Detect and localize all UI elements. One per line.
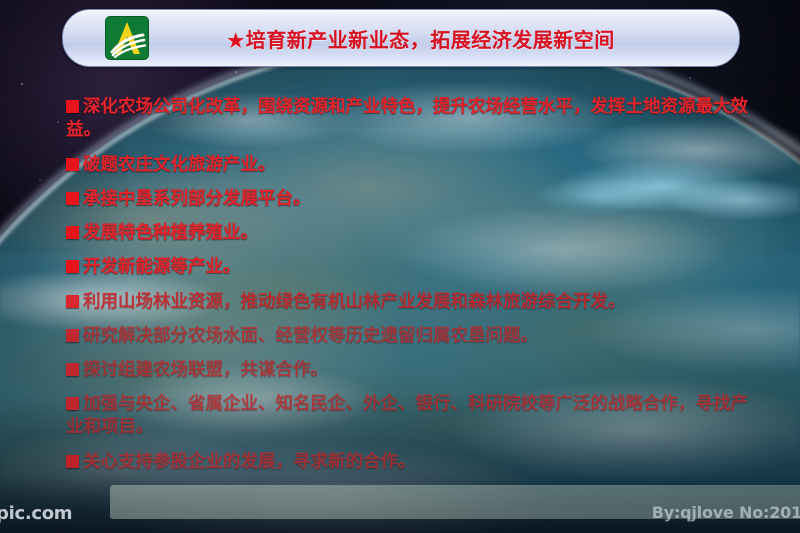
- slide-title-text: 培育新产业新业态，拓展经济发展新空间: [246, 28, 615, 52]
- bullet-marker-icon: [66, 329, 79, 342]
- bullet-item: 探讨组建农场联盟，共谋合作。: [66, 359, 756, 382]
- bullet-marker-icon: [66, 455, 79, 468]
- bullet-item: 承接中垦系列部分发展平台。: [66, 188, 756, 211]
- bullet-text: 利用山场林业资源，推动绿色有机山林产业发展和森林旅游综合开发。: [83, 292, 626, 312]
- bullet-text: 承接中垦系列部分发展平台。: [83, 189, 311, 209]
- bullet-text: 开发新能源等产业。: [83, 257, 241, 277]
- presentation-slide: ★培育新产业新业态，拓展经济发展新空间 深化农场公司化改革，围绕资源和产业特色，…: [0, 0, 800, 533]
- bullet-text: 加强与央企、省属企业、知名民企、外企、银行、科研院校等广泛的战略合作，寻找产业和…: [66, 394, 748, 437]
- bullet-text: 破题农庄文化旅游产业。: [83, 155, 276, 175]
- bullet-item: 研究解决部分农场水面、经营权等历史遗留归属农垦问题。: [66, 325, 756, 348]
- bullet-text: 发展特色种植养殖业。: [83, 223, 258, 243]
- bullet-item: 利用山场林业资源，推动绿色有机山林产业发展和森林旅游综合开发。: [66, 291, 756, 314]
- bullet-item: 深化农场公司化改革，围绕资源和产业特色，提升农场经营水平，发挥土地资源最大效益。: [66, 96, 756, 142]
- bullet-item: 开发新能源等产业。: [66, 256, 756, 279]
- slide-title: ★培育新产业新业态，拓展经济发展新空间: [149, 24, 739, 53]
- bullet-item: 破题农庄文化旅游产业。: [66, 154, 756, 177]
- bullet-text: 研究解决部分农场水面、经营权等历史遗留归属农垦问题。: [83, 326, 538, 346]
- bullet-text: 深化农场公司化改革，围绕资源和产业特色，提升农场经营水平，发挥土地资源最大效益。: [66, 97, 748, 140]
- bullet-marker-icon: [66, 397, 79, 410]
- bullet-item: 关心支持参股企业的发展，寻求新的合作。: [66, 451, 756, 474]
- bullet-marker-icon: [66, 100, 79, 113]
- title-banner: ★培育新产业新业态，拓展经济发展新空间: [62, 9, 740, 67]
- bullet-text: 探讨组建农场联盟，共谋合作。: [83, 360, 328, 380]
- bullet-item: 发展特色种植养殖业。: [66, 222, 756, 245]
- bullet-text: 关心支持参股企业的发展，寻求新的合作。: [83, 452, 416, 472]
- bullet-marker-icon: [66, 192, 79, 205]
- bullet-marker-icon: [66, 158, 79, 171]
- agriculture-group-logo-icon: [105, 16, 149, 60]
- bullet-list: 深化农场公司化改革，围绕资源和产业特色，提升农场经营水平，发挥土地资源最大效益。…: [66, 96, 756, 485]
- bullet-marker-icon: [66, 295, 79, 308]
- bullet-marker-icon: [66, 260, 79, 273]
- star-icon: ★: [227, 30, 245, 52]
- bullet-marker-icon: [66, 226, 79, 239]
- watermark-plate: [110, 485, 800, 519]
- bullet-marker-icon: [66, 363, 79, 376]
- bullet-item: 加强与央企、省属企业、知名民企、外企、银行、科研院校等广泛的战略合作，寻找产业和…: [66, 393, 756, 439]
